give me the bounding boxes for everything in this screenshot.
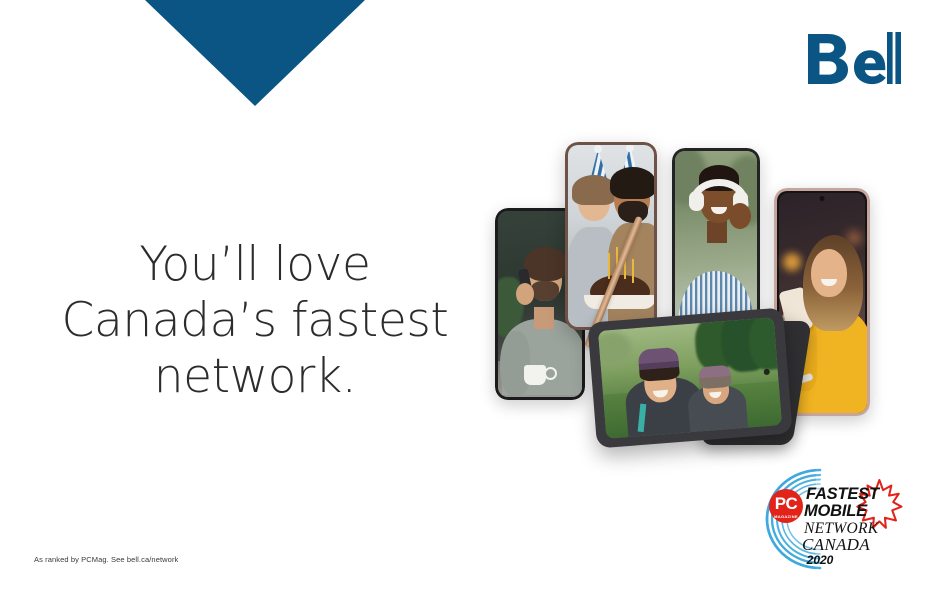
device-lineup: Man smiling while talking on a phone at …: [480, 130, 900, 450]
device-frame: [587, 308, 792, 449]
bell-logo-text: Bell: [902, 30, 903, 31]
device-screen: [568, 145, 654, 327]
front-camera-dot: [820, 196, 825, 201]
legal-footnote: As ranked by PCMag. See bell.ca/network: [34, 555, 178, 564]
device-screen: [675, 151, 757, 337]
page-headline: You’ll love Canada’s fastest network.: [20, 237, 490, 405]
badge-line-4: CANADA: [802, 535, 870, 554]
badge-line-2: MOBILE: [804, 502, 868, 520]
device-caption: Two women taking a selfie outdoors in a …: [592, 315, 593, 316]
badge-year: 2020: [806, 553, 834, 567]
device-screen: [598, 317, 782, 438]
pcmag-logo-mark: PC MAGAZINE: [769, 489, 803, 523]
device-caption: Woman in a striped shirt laughing while …: [672, 148, 673, 149]
advertisement-canvas: Bell You’ll love Canada’s fastest networ…: [0, 0, 936, 606]
device-caption: Couple in party hats laughing with a cho…: [565, 142, 566, 143]
device-caption: Woman in a yellow top smiling while look…: [774, 188, 775, 189]
device-caption: Man smiling while talking on a phone at …: [495, 208, 496, 209]
device-frame: [565, 142, 657, 330]
award-badge[interactable]: PC MAGAZINE FASTEST MOBILE NETWORK CANAD…: [758, 466, 906, 572]
badge-line-1: FASTEST: [806, 485, 881, 503]
bell-logo[interactable]: Bell: [806, 30, 902, 88]
device-phone-couple-cake[interactable]: Couple in party hats laughing with a cho…: [565, 142, 657, 330]
pcmag-pc-text: PC: [775, 494, 798, 513]
device-phone-hikers-landscape[interactable]: Two women taking a selfie outdoors in a …: [592, 315, 806, 447]
brand-chevron-shape: [145, 0, 365, 106]
pcmag-subtext: MAGAZINE: [774, 514, 798, 519]
